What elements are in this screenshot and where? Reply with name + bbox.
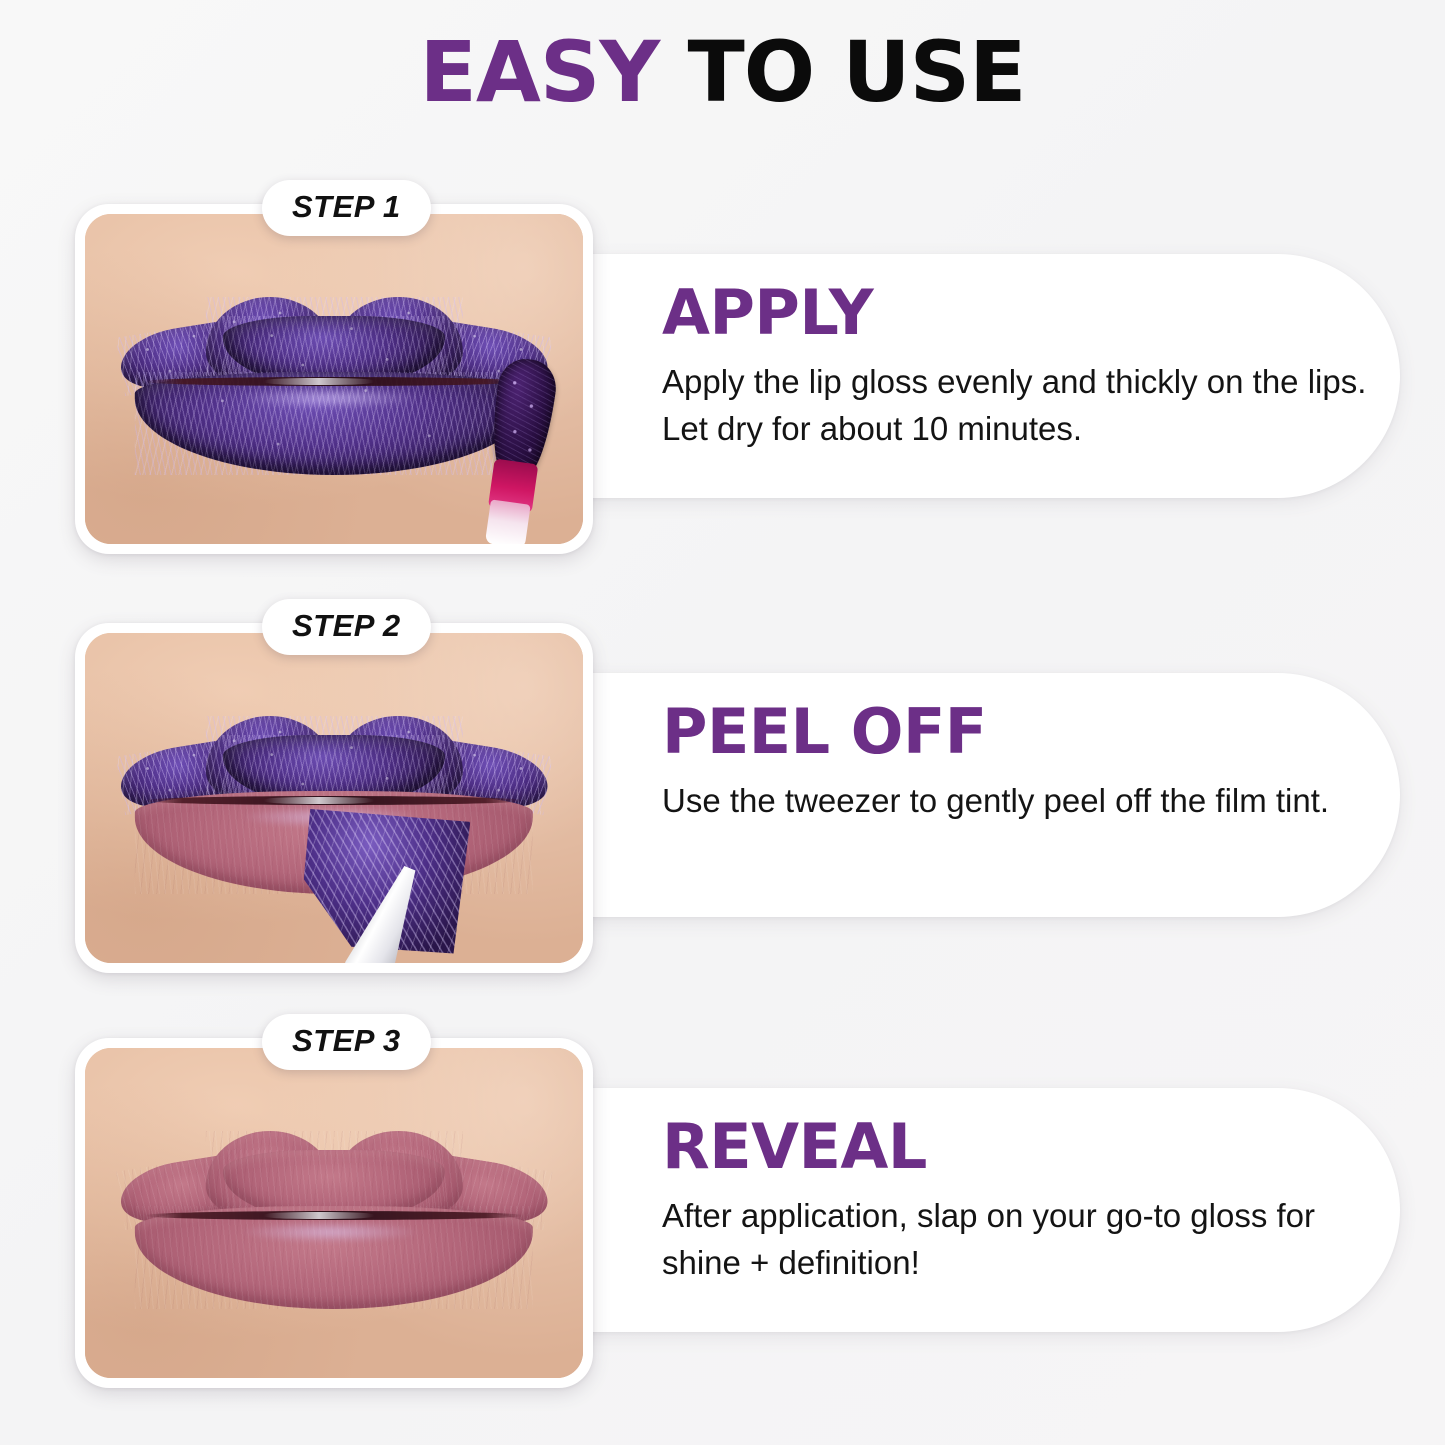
step-3-body: After application, slap on your go-to gl… bbox=[662, 1193, 1368, 1287]
lips-revealed-mauve bbox=[85, 1048, 583, 1378]
step-block-3: REVEAL After application, slap on your g… bbox=[0, 1030, 1445, 1390]
step-1-photo bbox=[75, 204, 593, 554]
page-title-accent: EASY bbox=[419, 23, 659, 121]
step-2-badge: STEP 2 bbox=[262, 599, 431, 655]
step-1-heading: APPLY bbox=[662, 278, 1382, 347]
teeth-gap bbox=[264, 378, 374, 385]
step-block-2: PEEL OFF Use the tweezer to gently peel … bbox=[0, 615, 1445, 975]
teeth-gap bbox=[264, 797, 374, 804]
step-3-heading: REVEAL bbox=[662, 1112, 1382, 1181]
step-3-badge: STEP 3 bbox=[262, 1014, 431, 1070]
page-title-plain: TO USE bbox=[687, 23, 1025, 121]
step-1-badge: STEP 1 bbox=[262, 180, 431, 236]
step-2-body: Use the tweezer to gently peel off the f… bbox=[662, 778, 1368, 825]
step-3-photo bbox=[75, 1038, 593, 1388]
step-block-1: APPLY Apply the lip gloss evenly and thi… bbox=[0, 196, 1445, 556]
step-2-heading: PEEL OFF bbox=[662, 697, 1382, 766]
step-1-body: Apply the lip gloss evenly and thickly o… bbox=[662, 359, 1368, 453]
step-2-photo bbox=[75, 623, 593, 973]
page-title: EASY TO USE bbox=[0, 28, 1445, 116]
easy-to-use-infographic: EASY TO USE APPLY Apply the lip gloss ev… bbox=[0, 0, 1445, 1445]
teeth-gap bbox=[264, 1212, 374, 1219]
